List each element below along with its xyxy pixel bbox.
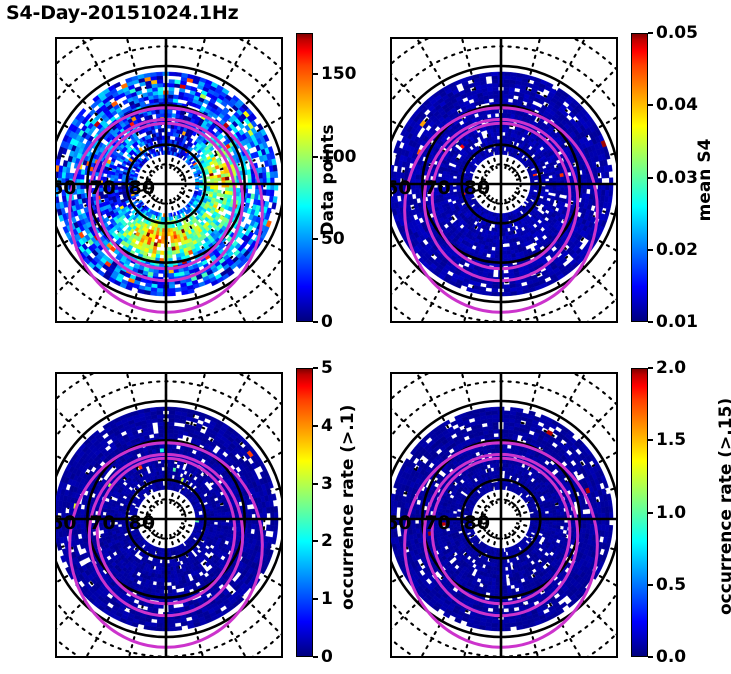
colorbar-tick-label: 0.03: [656, 168, 698, 188]
colorbar-label-mean-s4: mean S4: [695, 120, 715, 240]
colorbar-gradient: [296, 33, 313, 322]
colorbar-tick: [648, 367, 653, 369]
colorbar-tick: [648, 439, 653, 441]
colorbar-tick: [648, 177, 653, 179]
colorbar-tick: [648, 656, 653, 658]
colorbar-tick: [648, 512, 653, 514]
radial-tick-label-80: 80: [129, 177, 155, 199]
radial-tick-label-70: 70: [424, 512, 450, 534]
colorbar-tick-label: 0.02: [656, 240, 698, 260]
colorbar-tick: [313, 598, 318, 600]
colorbar-tick-label: 4: [321, 416, 333, 436]
colorbar-occurrence-rate-gt-15[interactable]: 0.00.51.01.52.0: [631, 368, 648, 657]
colorbar-tick: [648, 104, 653, 106]
colorbar-tick: [313, 540, 318, 542]
radial-tick-label-80: 80: [464, 177, 490, 199]
colorbar-label-occurrence-rate-gt-1: occurrence rate (>.1): [338, 420, 358, 610]
colorbar-tick: [313, 483, 318, 485]
colorbar-tick: [313, 321, 318, 323]
colorbar-tick-label: 2: [321, 531, 333, 551]
colorbar-tick-label: 1.5: [656, 430, 686, 450]
colorbar-tick-label: 5: [321, 358, 333, 378]
polar-plot-mean-s4: 607080: [390, 37, 618, 323]
colorbar-tick-label: 0.01: [656, 312, 698, 332]
colorbar-tick-label: 2.0: [656, 358, 686, 378]
panel-data-points: 607080: [55, 37, 283, 323]
panel-mean-s4: 607080: [390, 37, 618, 323]
colorbar-gradient: [631, 33, 648, 322]
colorbar-tick-label: 0.04: [656, 95, 698, 115]
polar-plot-occurrence-rate-gt-15: 607080: [390, 372, 618, 658]
colorbar-tick-label: 0.0: [656, 647, 686, 667]
polar-plot-occurrence-rate-gt-1: 607080: [55, 372, 283, 658]
colorbar-tick-label: 0.5: [656, 575, 686, 595]
polar-plot-data-points: 607080: [55, 37, 283, 323]
radial-tick-label-60: 60: [390, 177, 411, 199]
colorbar-tick-label: 0: [321, 312, 333, 332]
radial-tick-label-60: 60: [390, 512, 411, 534]
colorbar-tick-label: 1: [321, 589, 333, 609]
panel-occurrence-rate-gt-15: 607080: [390, 372, 618, 658]
colorbar-tick-label: 0.05: [656, 23, 698, 43]
radial-tick-label-70: 70: [89, 177, 115, 199]
colorbar-tick: [648, 32, 653, 34]
radial-tick-label-70: 70: [424, 177, 450, 199]
colorbar-tick: [313, 425, 318, 427]
colorbar-tick: [313, 656, 318, 658]
colorbar-tick-label: 0: [321, 647, 333, 667]
colorbar-tick: [648, 249, 653, 251]
colorbar-mean-s4[interactable]: 0.010.020.030.040.05: [631, 33, 648, 322]
colorbar-tick: [648, 584, 653, 586]
radial-tick-label-80: 80: [464, 512, 490, 534]
colorbar-gradient: [631, 368, 648, 657]
colorbar-tick: [648, 321, 653, 323]
colorbar-gradient: [296, 368, 313, 657]
colorbar-label-data-points: Data points: [318, 120, 338, 240]
figure-canvas: S4-Day-20151024.1Hz 607080 050100150 Dat…: [0, 0, 731, 674]
colorbar-data-points[interactable]: 050100150: [296, 33, 313, 322]
page-title: S4-Day-20151024.1Hz: [6, 2, 238, 24]
colorbar-label-occurrence-rate-gt-15: occurrence rate (>.15): [716, 415, 731, 615]
panel-occurrence-rate-gt-1: 607080: [55, 372, 283, 658]
colorbar-tick-label: 1.0: [656, 503, 686, 523]
colorbar-occurrence-rate-gt-1[interactable]: 012345: [296, 368, 313, 657]
colorbar-tick: [313, 367, 318, 369]
radial-tick-label-60: 60: [55, 177, 76, 199]
colorbar-tick-label: 150: [321, 64, 357, 84]
colorbar-tick: [313, 73, 318, 75]
radial-tick-label-60: 60: [55, 512, 76, 534]
colorbar-tick-label: 3: [321, 474, 333, 494]
radial-tick-label-80: 80: [129, 512, 155, 534]
radial-tick-label-70: 70: [89, 512, 115, 534]
